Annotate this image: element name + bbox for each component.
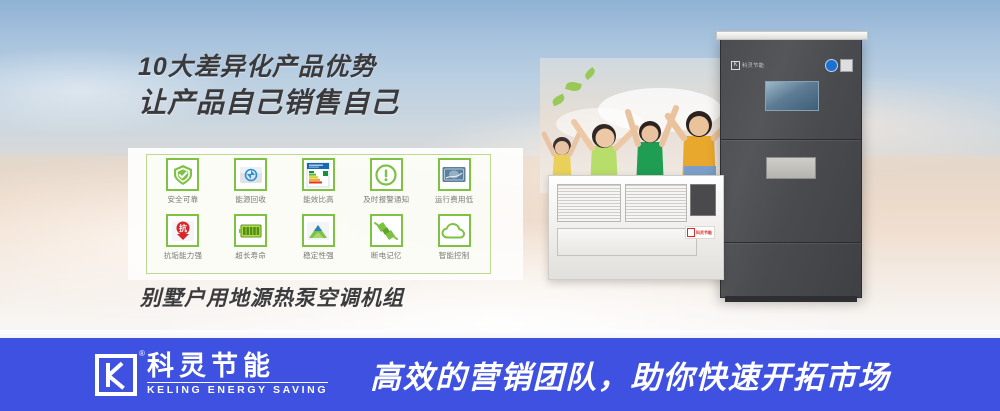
stability-mountain-icon <box>302 214 335 247</box>
k-leg-shape <box>108 374 125 389</box>
cabinet-brand-badge: K 科灵节能 <box>731 59 783 71</box>
feature-item[interactable]: 超长寿命 <box>217 214 285 270</box>
feature-item[interactable]: 及时报警通知 <box>352 158 420 214</box>
headline-block: 10大差异化产品优势 让产品自己销售自己 <box>138 52 399 120</box>
energy-label-icon <box>302 158 335 191</box>
feature-label: 安全可靠 <box>167 194 198 205</box>
footer-slogan: 高效的营销团队，助你快速开拓市场 <box>370 352 890 397</box>
horizontal-air-handler-unit: 科灵节能 <box>548 175 724 280</box>
feature-label: 能源回收 <box>235 194 266 205</box>
anti-scale-icon: 抗 <box>166 214 199 247</box>
feature-label: 断电记忆 <box>371 250 402 261</box>
brand-name-cn: 科灵节能 <box>147 352 328 381</box>
registered-trademark-icon: ® <box>139 349 145 358</box>
unit-brand-badge: 科灵节能 <box>685 226 715 239</box>
nameplate <box>766 157 816 179</box>
intake-grille-left <box>557 184 621 222</box>
features-grid: 安全可靠 能源回收 <box>146 154 491 274</box>
energy-recovery-icon <box>234 158 267 191</box>
certification-badge-grey-icon <box>840 59 853 72</box>
lower-outlet-vent <box>557 228 697 256</box>
panel-seam <box>721 242 861 243</box>
headline-line-2: 让产品自己销售自己 <box>138 86 399 120</box>
feature-item[interactable]: 智能控制 <box>420 214 488 270</box>
low-cost-banknote-icon <box>438 158 471 191</box>
feature-item[interactable]: 断电记忆 <box>352 214 420 270</box>
certification-stickers <box>825 59 853 72</box>
logo-mark-icon <box>687 228 695 237</box>
logo-mark-icon: K <box>731 61 740 70</box>
feature-item[interactable]: 安全可靠 <box>149 158 217 214</box>
feature-item[interactable]: 运行费用低 <box>420 158 488 214</box>
svg-text:抗: 抗 <box>179 223 187 233</box>
headline-line-1: 10大差异化产品优势 <box>138 52 399 82</box>
footer-blue-bar: ® 科灵节能 KELING ENERGY SAVING 高效的营销团队，助你快速… <box>0 338 1000 411</box>
shield-check-icon <box>166 158 199 191</box>
feature-item[interactable]: 抗 抗垢能力强 <box>149 214 217 270</box>
feature-item[interactable]: 能效比高 <box>285 158 353 214</box>
brand-logo[interactable]: ® 科灵节能 KELING ENERGY SAVING <box>95 352 328 397</box>
battery-life-icon <box>234 214 267 247</box>
feature-item[interactable]: 能源回收 <box>217 158 285 214</box>
panel-seam <box>721 139 861 140</box>
feature-item[interactable]: 稳定性强 <box>285 214 353 270</box>
feature-label: 超长寿命 <box>235 250 266 261</box>
feature-label: 能效比高 <box>303 194 334 205</box>
product-subtitle: 别墅户用地源热泵空调机组 <box>140 282 404 312</box>
feature-label: 抗垢能力强 <box>164 250 203 261</box>
marketing-banner: 10大差异化产品优势 让产品自己销售自己 <box>0 0 1000 411</box>
alert-exclamation-icon <box>370 158 403 191</box>
keling-k-logo-icon <box>95 354 137 396</box>
side-vent <box>690 184 716 216</box>
intake-grille-right <box>625 184 687 222</box>
certification-badge-blue-icon <box>825 59 838 72</box>
bar-top-gap <box>0 330 1000 338</box>
vertical-heat-pump-cabinet: K 科灵节能 <box>720 36 862 298</box>
power-plug-memory-icon <box>370 214 403 247</box>
feature-label: 智能控制 <box>439 250 470 261</box>
children-photo <box>540 58 750 193</box>
feature-label: 稳定性强 <box>303 250 334 261</box>
brand-logo-text: ® 科灵节能 KELING ENERGY SAVING <box>147 352 328 397</box>
brand-name-en: KELING ENERGY SAVING <box>147 382 328 397</box>
cabinet-top-cap <box>716 31 868 40</box>
feature-label: 及时报警通知 <box>363 194 409 205</box>
feature-label: 运行费用低 <box>435 194 474 205</box>
cabinet-base <box>725 296 857 302</box>
control-display-panel <box>765 81 819 111</box>
cloud-control-icon <box>438 214 471 247</box>
